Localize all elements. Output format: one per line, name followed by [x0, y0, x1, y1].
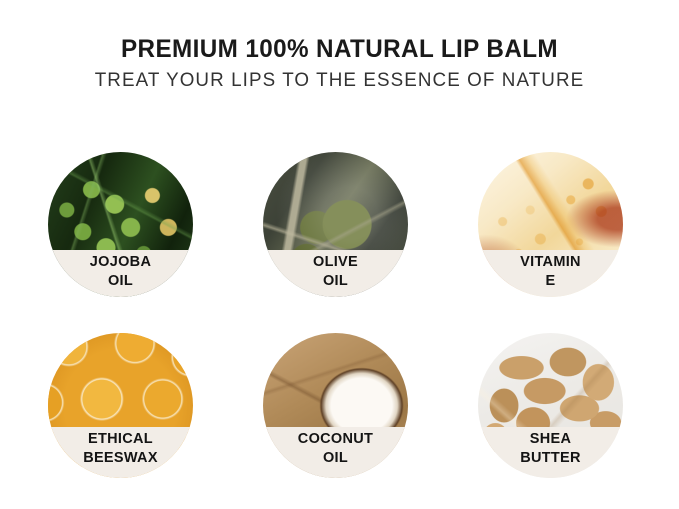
ingredient-label-olive-oil: OLIVE OIL — [263, 250, 408, 297]
ingredient-grid: JOJOBA OIL OLIVE OIL VITAMIN E ETHICAL B… — [0, 0, 679, 509]
ingredient-label-line2: BEESWAX — [83, 449, 158, 468]
ingredient-label-coconut-oil: COCONUT OIL — [263, 427, 408, 478]
ingredient-label-line1: JOJOBA — [90, 253, 151, 272]
ingredient-badge-vitamin-e[interactable]: VITAMIN E — [478, 152, 623, 297]
ingredient-label-line1: VITAMIN — [520, 253, 581, 272]
ingredient-badge-shea-butter[interactable]: SHEA BUTTER — [478, 333, 623, 478]
ingredient-badge-ethical-beeswax[interactable]: ETHICAL BEESWAX — [48, 333, 193, 478]
ingredient-badge-coconut-oil[interactable]: COCONUT OIL — [263, 333, 408, 478]
ingredient-badge-jojoba-oil[interactable]: JOJOBA OIL — [48, 152, 193, 297]
ingredient-label-jojoba-oil: JOJOBA OIL — [48, 250, 193, 297]
ingredient-label-line2: E — [546, 272, 556, 291]
ingredient-label-line2: BUTTER — [520, 449, 581, 468]
ingredient-label-line2: OIL — [108, 272, 133, 291]
ingredient-label-shea-butter: SHEA BUTTER — [478, 427, 623, 478]
ingredient-label-line2: OIL — [323, 449, 348, 468]
ingredient-badge-olive-oil[interactable]: OLIVE OIL — [263, 152, 408, 297]
ingredient-label-line1: COCONUT — [298, 430, 373, 449]
ingredient-label-ethical-beeswax: ETHICAL BEESWAX — [48, 427, 193, 478]
ingredient-label-line1: OLIVE — [313, 253, 358, 272]
ingredient-label-vitamin-e: VITAMIN E — [478, 250, 623, 297]
ingredient-label-line1: ETHICAL — [88, 430, 153, 449]
ingredient-label-line2: OIL — [323, 272, 348, 291]
ingredient-label-line1: SHEA — [530, 430, 572, 449]
